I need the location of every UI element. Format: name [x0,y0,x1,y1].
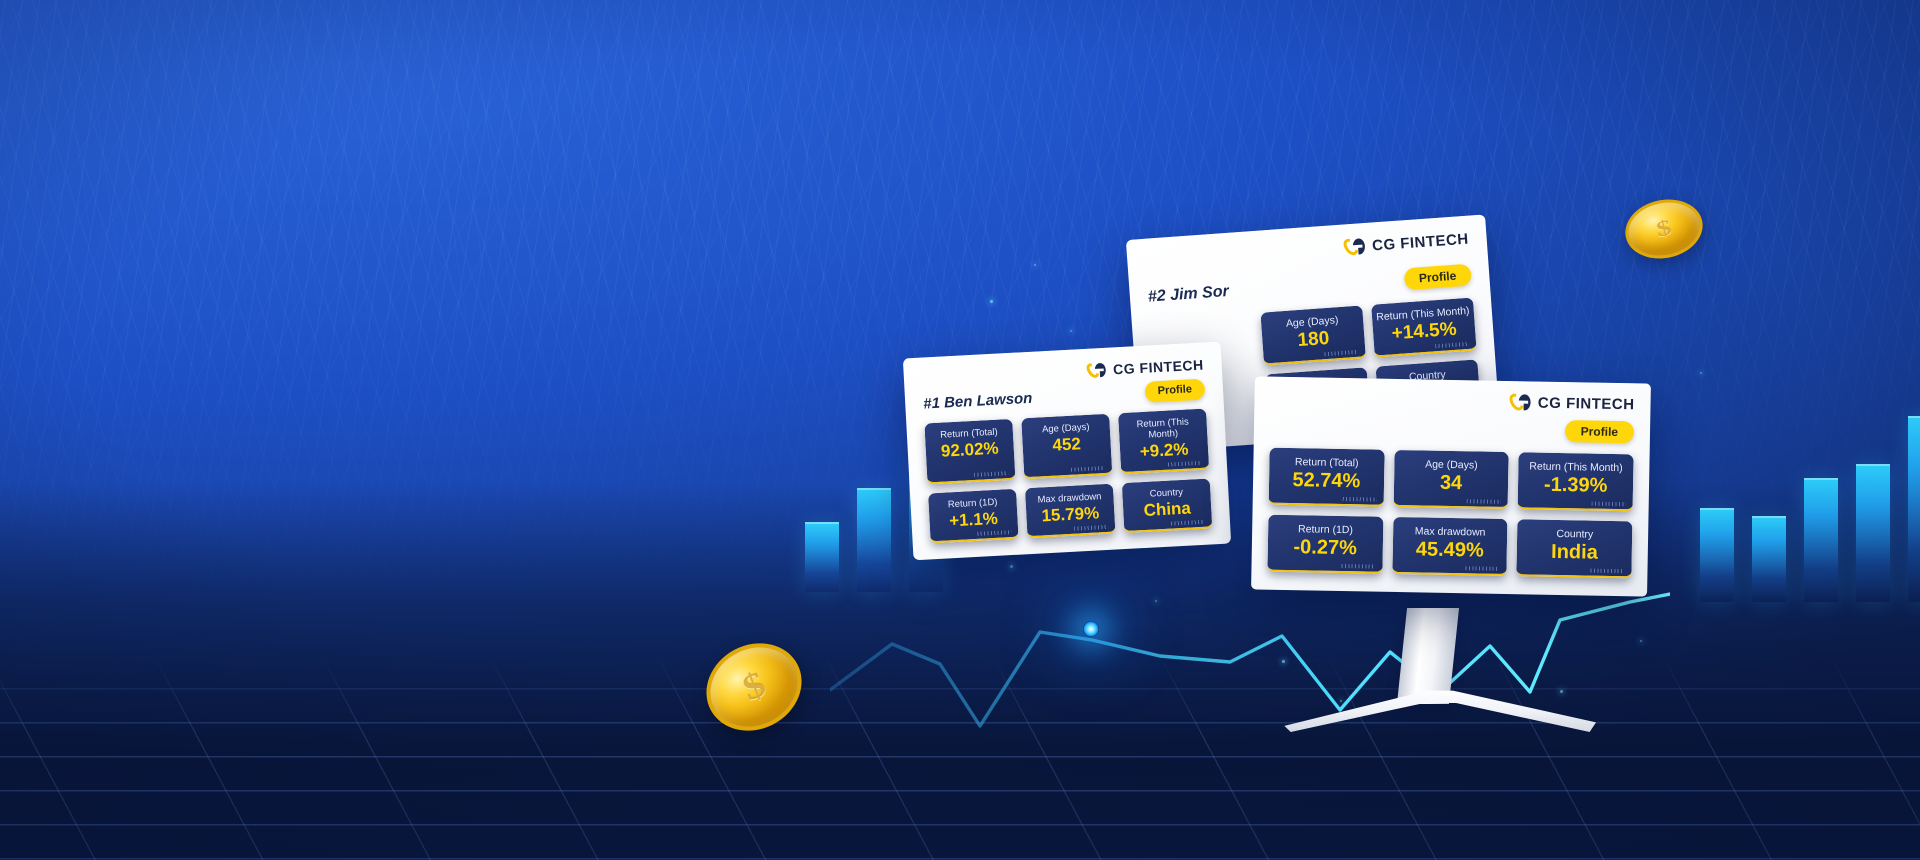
card-header: CG FINTECH [1270,389,1634,414]
brand-name: CG FINTECH [1538,394,1635,413]
cg-fintech-logo-icon [1088,362,1107,379]
stat-value: China [1127,498,1208,522]
stat-tile-return-this-month[interactable]: Return (This Month) -1.39% [1518,452,1634,511]
trader-rank-name: #2 Jim Sor [1147,283,1229,307]
sparkle-dot [1700,372,1702,374]
stat-label: Country [1521,527,1628,541]
stat-label: Return (This Month) [1523,460,1630,474]
sparkle-dot [1070,330,1072,332]
bar [1856,464,1890,602]
brand-name: CG FINTECH [1113,357,1204,378]
card-title-row: Profile [1270,415,1634,444]
stat-value: 15.79% [1030,503,1111,527]
profile-button[interactable]: Profile [1403,264,1472,291]
bar [1700,508,1734,602]
stats-grid: Return (Total) 52.74% Age (Days) 34 Retu… [1267,448,1633,579]
profile-button[interactable]: Profile [1564,420,1634,443]
stat-value: +9.2% [1124,439,1205,463]
stat-tile-max-drawdown[interactable]: Max drawdown 45.49% [1392,517,1508,576]
stat-tile-return-this-month[interactable]: Return (This Month) +9.2% [1118,409,1209,475]
stats-grid: Return (Total) 92.02% Age (Days) 452 Ret… [924,409,1212,544]
stat-value: -1.39% [1522,473,1629,498]
hero-stage: CG FINTECH #2 Jim Sor Profile Return (To… [0,0,1920,860]
trader-card-india[interactable]: CG FINTECH Profile Return (Total) 52.74%… [1251,376,1651,596]
trader-card-ben-lawson[interactable]: CG FINTECH #1 Ben Lawson Profile Return … [903,342,1231,561]
stat-tile-return-total[interactable]: Return (Total) 92.02% [924,419,1015,485]
sparkle-dot [990,300,993,303]
stat-value: India [1521,540,1628,565]
stat-tile-age-days[interactable]: Age (Days) 180 [1260,305,1366,365]
stat-tile-return-1d[interactable]: Return (1D) -0.27% [1267,515,1383,574]
trader-rank-name: #1 Ben Lawson [923,390,1033,413]
cg-fintech-logo-icon [1511,393,1531,411]
stat-value: 52.74% [1273,469,1380,494]
trend-line-path [830,594,1670,726]
card-header: CG FINTECH [1145,230,1469,271]
stat-tile-max-drawdown[interactable]: Max drawdown 15.79% [1025,484,1116,539]
stat-label: Age (Days) [1398,458,1505,472]
stat-value: -0.27% [1272,536,1379,561]
brand-logo: CG FINTECH [1345,230,1470,257]
stat-value: 452 [1026,433,1107,457]
brand-logo: CG FINTECH [1511,393,1635,413]
stat-value: 92.02% [929,438,1010,462]
stat-tile-country[interactable]: Country China [1122,478,1213,533]
stat-tile-age-days[interactable]: Age (Days) 452 [1021,414,1112,480]
bar [1804,478,1838,602]
stat-tile-return-this-month[interactable]: Return (This Month) +14.5% [1371,297,1477,357]
stat-value: 34 [1398,471,1505,496]
bar [1752,516,1786,602]
stat-label: Max drawdown [1397,525,1504,539]
stat-label: Return (1D) [1272,523,1379,537]
brand-logo: CG FINTECH [1088,357,1204,379]
trend-line-highlight-dot [1083,621,1099,637]
stat-tile-return-1d[interactable]: Return (1D) +1.1% [928,489,1019,544]
stat-tile-return-total[interactable]: Return (Total) 52.74% [1269,448,1385,507]
stat-value: 45.49% [1396,538,1503,563]
brand-name: CG FINTECH [1372,230,1470,254]
stat-tile-age-days[interactable]: Age (Days) 34 [1393,450,1509,509]
profile-button[interactable]: Profile [1144,379,1205,403]
stat-tile-country[interactable]: Country India [1517,519,1633,578]
stat-value: +1.1% [933,508,1014,532]
bar [1908,416,1920,602]
sparkle-dot [1034,264,1036,266]
cg-fintech-logo-icon [1345,237,1366,256]
stat-label: Return (Total) [1273,456,1380,470]
monitor-stand-neck [1397,608,1459,704]
background-bar-chart-right [1700,416,1920,602]
stat-label: Return (This Month) [1122,416,1203,442]
